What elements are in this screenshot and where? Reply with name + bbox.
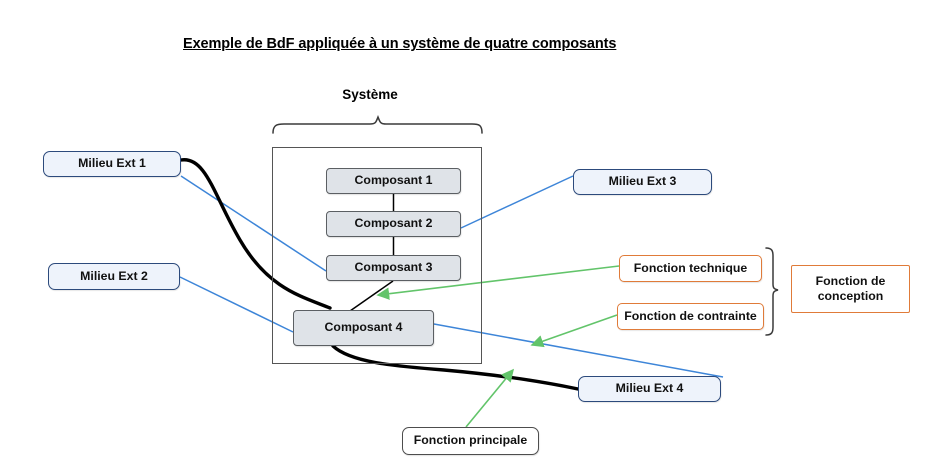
node-composant-2[interactable]: Composant 2: [326, 211, 461, 237]
node-milieu-ext-4[interactable]: Milieu Ext 4: [578, 376, 721, 402]
page-title: Exemple de BdF appliquée à un système de…: [183, 36, 603, 52]
node-milieu-ext-2[interactable]: Milieu Ext 2: [48, 263, 180, 290]
diagram-canvas: Exemple de BdF appliquée à un système de…: [0, 0, 945, 476]
system-brace: [273, 117, 482, 133]
fonction-conception-line2: conception: [818, 289, 884, 304]
function-group-brace: [766, 248, 778, 335]
node-composant-1[interactable]: Composant 1: [326, 168, 461, 194]
node-fonction-technique[interactable]: Fonction technique: [619, 255, 762, 282]
fonction-conception-line1: Fonction de: [816, 274, 886, 289]
arrow-fonction-principale: [466, 370, 513, 427]
arrow-fonction-contrainte: [532, 315, 617, 345]
node-composant-3[interactable]: Composant 3: [326, 255, 461, 281]
node-milieu-ext-1[interactable]: Milieu Ext 1: [43, 151, 181, 177]
system-label: Système: [310, 87, 430, 102]
node-milieu-ext-3[interactable]: Milieu Ext 3: [573, 169, 712, 195]
node-composant-4[interactable]: Composant 4: [293, 310, 434, 346]
node-fonction-principale[interactable]: Fonction principale: [402, 427, 539, 455]
node-fonction-de-conception[interactable]: Fonction de conception: [791, 265, 910, 313]
node-fonction-de-contrainte[interactable]: Fonction de contrainte: [617, 303, 764, 330]
